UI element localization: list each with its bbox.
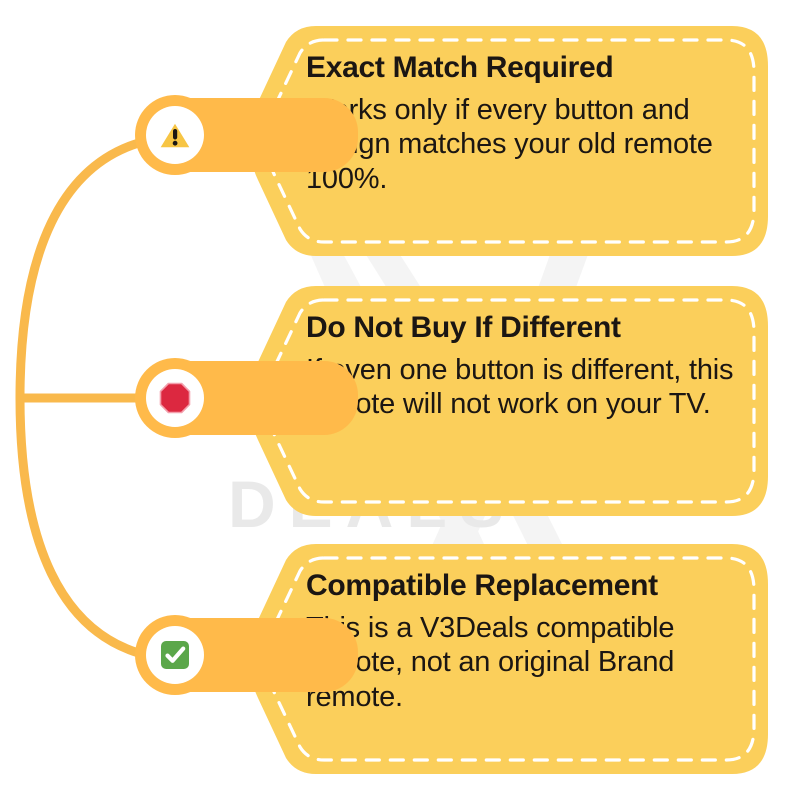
badge-warning[interactable] [135,95,215,175]
infographic-canvas: DEALS Exact Match Required Works only if… [0,0,800,800]
card-title: Do Not Buy If Different [306,312,734,344]
badge-stop[interactable] [135,358,215,438]
card-body: If even one button is different, this re… [306,353,734,422]
check-square-icon [146,626,204,684]
card-title: Exact Match Required [306,52,734,84]
warning-triangle-icon [146,106,204,164]
card-body: This is a V3Deals compatible remote, not… [306,611,734,715]
card-body: Works only if every button and design ma… [306,93,734,197]
card-title: Compatible Replacement [306,570,734,602]
badge-check[interactable] [135,615,215,695]
stop-octagon-icon [146,369,204,427]
